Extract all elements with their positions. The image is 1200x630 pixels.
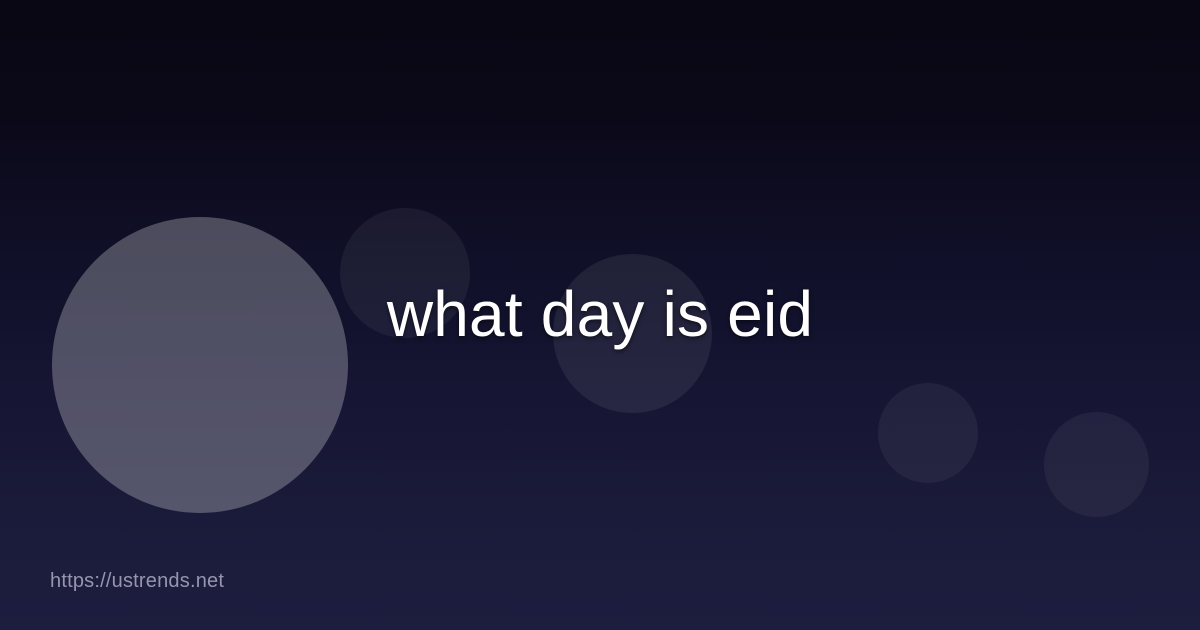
title-container: what day is eid xyxy=(0,0,1200,630)
site-url-label: https://ustrends.net xyxy=(50,570,224,593)
page-title: what day is eid xyxy=(327,278,873,352)
social-preview-card: what day is eid https://ustrends.net xyxy=(0,0,1200,630)
